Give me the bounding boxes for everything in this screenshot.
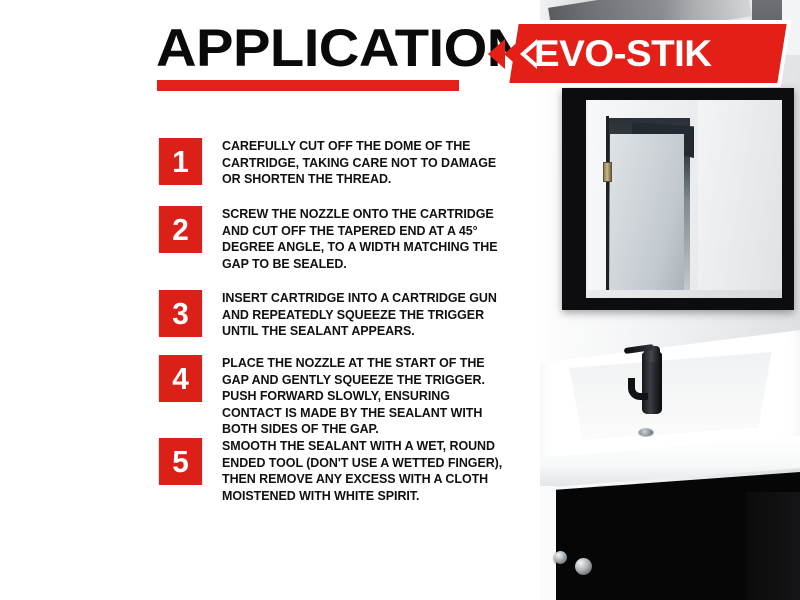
bathroom-vanity-photo [540,0,800,600]
door-panel-reflection [610,134,684,298]
chrome-knob [575,558,592,575]
chevron-left-icon [504,39,521,69]
step-text: PLACE THE NOZZLE AT THE START OF THE GAP… [222,355,507,438]
vanity-left-gap [540,486,556,600]
step-text: SMOOTH THE SEALANT WITH A WET, ROUND END… [222,438,507,504]
black-framed-mirror [562,88,794,310]
step-text: INSERT CARTRIDGE INTO A CARTRIDGE GUN AN… [222,290,507,340]
step-text: SCREW THE NOZZLE ONTO THE CARTRIDGE AND … [222,206,507,272]
double-chevron-left-icon [488,39,505,69]
step-number-badge: 1 [159,138,202,185]
step-number-badge: 2 [159,206,202,253]
list-item: 5 SMOOTH THE SEALANT WITH A WET, ROUND E… [158,438,510,504]
list-item: 2 SCREW THE NOZZLE ONTO THE CARTRIDGE AN… [158,206,510,272]
wall-reflection [698,100,782,298]
faucet-spout [628,378,648,400]
logo-text: EVO-STIK [534,30,784,77]
drain-icon [638,428,654,437]
application-instruction-poster: APPLICATION EVO-STIK 1 CAREFULLY CUT OFF… [0,0,800,600]
step-number-badge: 3 [159,290,202,337]
mirror-glass [586,100,782,298]
list-item: 4 PLACE THE NOZZLE AT THE START OF THE G… [158,355,510,438]
list-item: 1 CAREFULLY CUT OFF THE DOME OF THE CART… [158,138,510,188]
floor-line [588,290,782,298]
door-hinge-icon [603,162,612,182]
steps-list: 1 CAREFULLY CUT OFF THE DOME OF THE CART… [0,0,540,600]
step-text: CAREFULLY CUT OFF THE DOME OF THE CARTRI… [222,138,507,188]
vanity-side-panel [746,492,800,600]
door-edge [606,116,609,298]
step-number-badge: 4 [159,355,202,402]
chrome-knob [554,551,567,564]
step-number-badge: 5 [159,438,202,485]
list-item: 3 INSERT CARTRIDGE INTO A CARTRIDGE GUN … [158,290,510,340]
